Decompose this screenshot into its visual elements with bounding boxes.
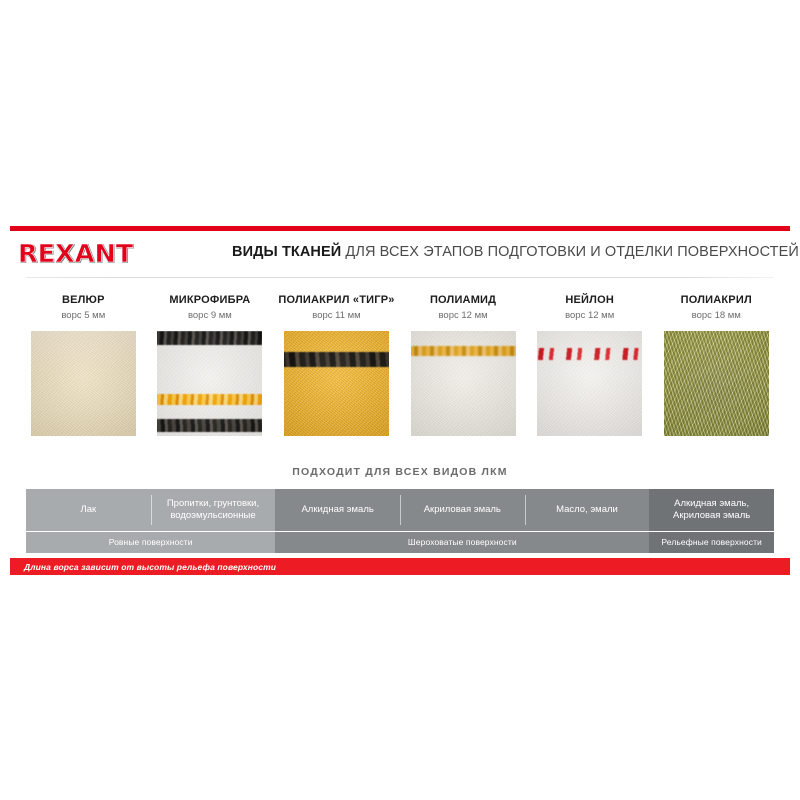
paint-cell: Лак bbox=[26, 489, 151, 531]
fabric-column-polyacryl: ПОЛИАКРИЛ ворс 18 мм bbox=[653, 294, 780, 436]
polyamide-swatch bbox=[411, 331, 516, 436]
paint-cell: Алкидная эмаль bbox=[275, 489, 400, 531]
paint-cell: Алкидная эмаль, Акриловая эмаль bbox=[649, 489, 774, 531]
header-divider bbox=[26, 277, 774, 278]
surface-cell: Рельефные поверхности bbox=[649, 532, 774, 553]
fabric-column-microfibre: МИКРОФИБРА ворс 9 мм bbox=[147, 294, 274, 436]
fabric-column-polyamide: ПОЛИАМИД ворс 12 мм bbox=[400, 294, 527, 436]
fabric-pile-length: ворс 12 мм bbox=[438, 310, 487, 322]
fabric-name: МИКРОФИБРА bbox=[169, 294, 250, 307]
microfibre-swatch bbox=[157, 331, 262, 436]
paint-cell: Пропитки, грунтовки, водоэмульсионные bbox=[151, 489, 276, 531]
footer-note-text: Длина ворса зависит от высоты рельефа по… bbox=[10, 562, 276, 572]
fabric-column-polyacryl-tiger: ПОЛИАКРИЛ «ТИГР» ворс 11 мм bbox=[273, 294, 400, 436]
shade-overlay bbox=[284, 331, 389, 436]
shade-overlay bbox=[664, 331, 769, 436]
footer-note: Длина ворса зависит от высоты рельефа по… bbox=[10, 558, 790, 575]
fabric-pile-length: ворс 11 мм bbox=[312, 310, 360, 322]
compatibility-matrix: Лак Пропитки, грунтовки, водоэмульсионны… bbox=[26, 489, 774, 553]
shade-overlay bbox=[157, 331, 262, 436]
fabric-pile-length: ворс 18 мм bbox=[692, 310, 741, 322]
infographic-page: REXANT ВИДЫ ТКАНЕЙ ДЛЯ ВСЕХ ЭТАПОВ ПОДГО… bbox=[0, 0, 800, 800]
fabric-column-velour: ВЕЛЮР ворс 5 мм bbox=[20, 294, 147, 436]
top-red-rule bbox=[10, 226, 790, 231]
paint-cell: Масло, эмали bbox=[525, 489, 650, 531]
fabric-columns: ВЕЛЮР ворс 5 мм МИКРОФИБРА ворс 9 мм ПОЛ… bbox=[20, 294, 780, 436]
page-title-strong: ВИДЫ ТКАНЕЙ bbox=[232, 244, 341, 260]
rexant-logo: REXANT bbox=[18, 240, 148, 266]
fabric-pile-length: ворс 9 мм bbox=[188, 310, 232, 322]
fabric-pile-length: ворс 12 мм bbox=[565, 310, 614, 322]
shade-overlay bbox=[537, 331, 642, 436]
rexant-logo-text: REXANT bbox=[18, 241, 133, 266]
surface-types-row: Ровные поверхности Шероховатые поверхнос… bbox=[26, 532, 774, 553]
fabric-name: ПОЛИАМИД bbox=[430, 294, 496, 307]
page-title-rest: ДЛЯ ВСЕХ ЭТАПОВ ПОДГОТОВКИ И ОТДЕЛКИ ПОВ… bbox=[341, 244, 799, 260]
fabric-name: ПОЛИАКРИЛ «ТИГР» bbox=[278, 294, 394, 307]
nylon-swatch bbox=[537, 331, 642, 436]
lkm-caption: ПОДХОДИТ ДЛЯ ВСЕХ ВИДОВ ЛКМ bbox=[0, 466, 800, 478]
fabric-name: ПОЛИАКРИЛ bbox=[681, 294, 752, 307]
fabric-pile-length: ворс 5 мм bbox=[61, 310, 105, 322]
page-title: ВИДЫ ТКАНЕЙ ДЛЯ ВСЕХ ЭТАПОВ ПОДГОТОВКИ И… bbox=[232, 244, 784, 260]
paint-cell: Акриловая эмаль bbox=[400, 489, 525, 531]
shade-overlay bbox=[411, 331, 516, 436]
fabric-name: ВЕЛЮР bbox=[62, 294, 105, 307]
velour-swatch bbox=[31, 331, 136, 436]
shade-overlay bbox=[31, 331, 136, 436]
paint-types-row: Лак Пропитки, грунтовки, водоэмульсионны… bbox=[26, 489, 774, 531]
surface-cell: Шероховатые поверхности bbox=[275, 532, 649, 553]
fabric-name: НЕЙЛОН bbox=[565, 294, 614, 307]
polyacryl-tiger-swatch bbox=[284, 331, 389, 436]
surface-cell: Ровные поверхности bbox=[26, 532, 275, 553]
fabric-column-nylon: НЕЙЛОН ворс 12 мм bbox=[526, 294, 653, 436]
polyacryl-swatch bbox=[664, 331, 769, 436]
